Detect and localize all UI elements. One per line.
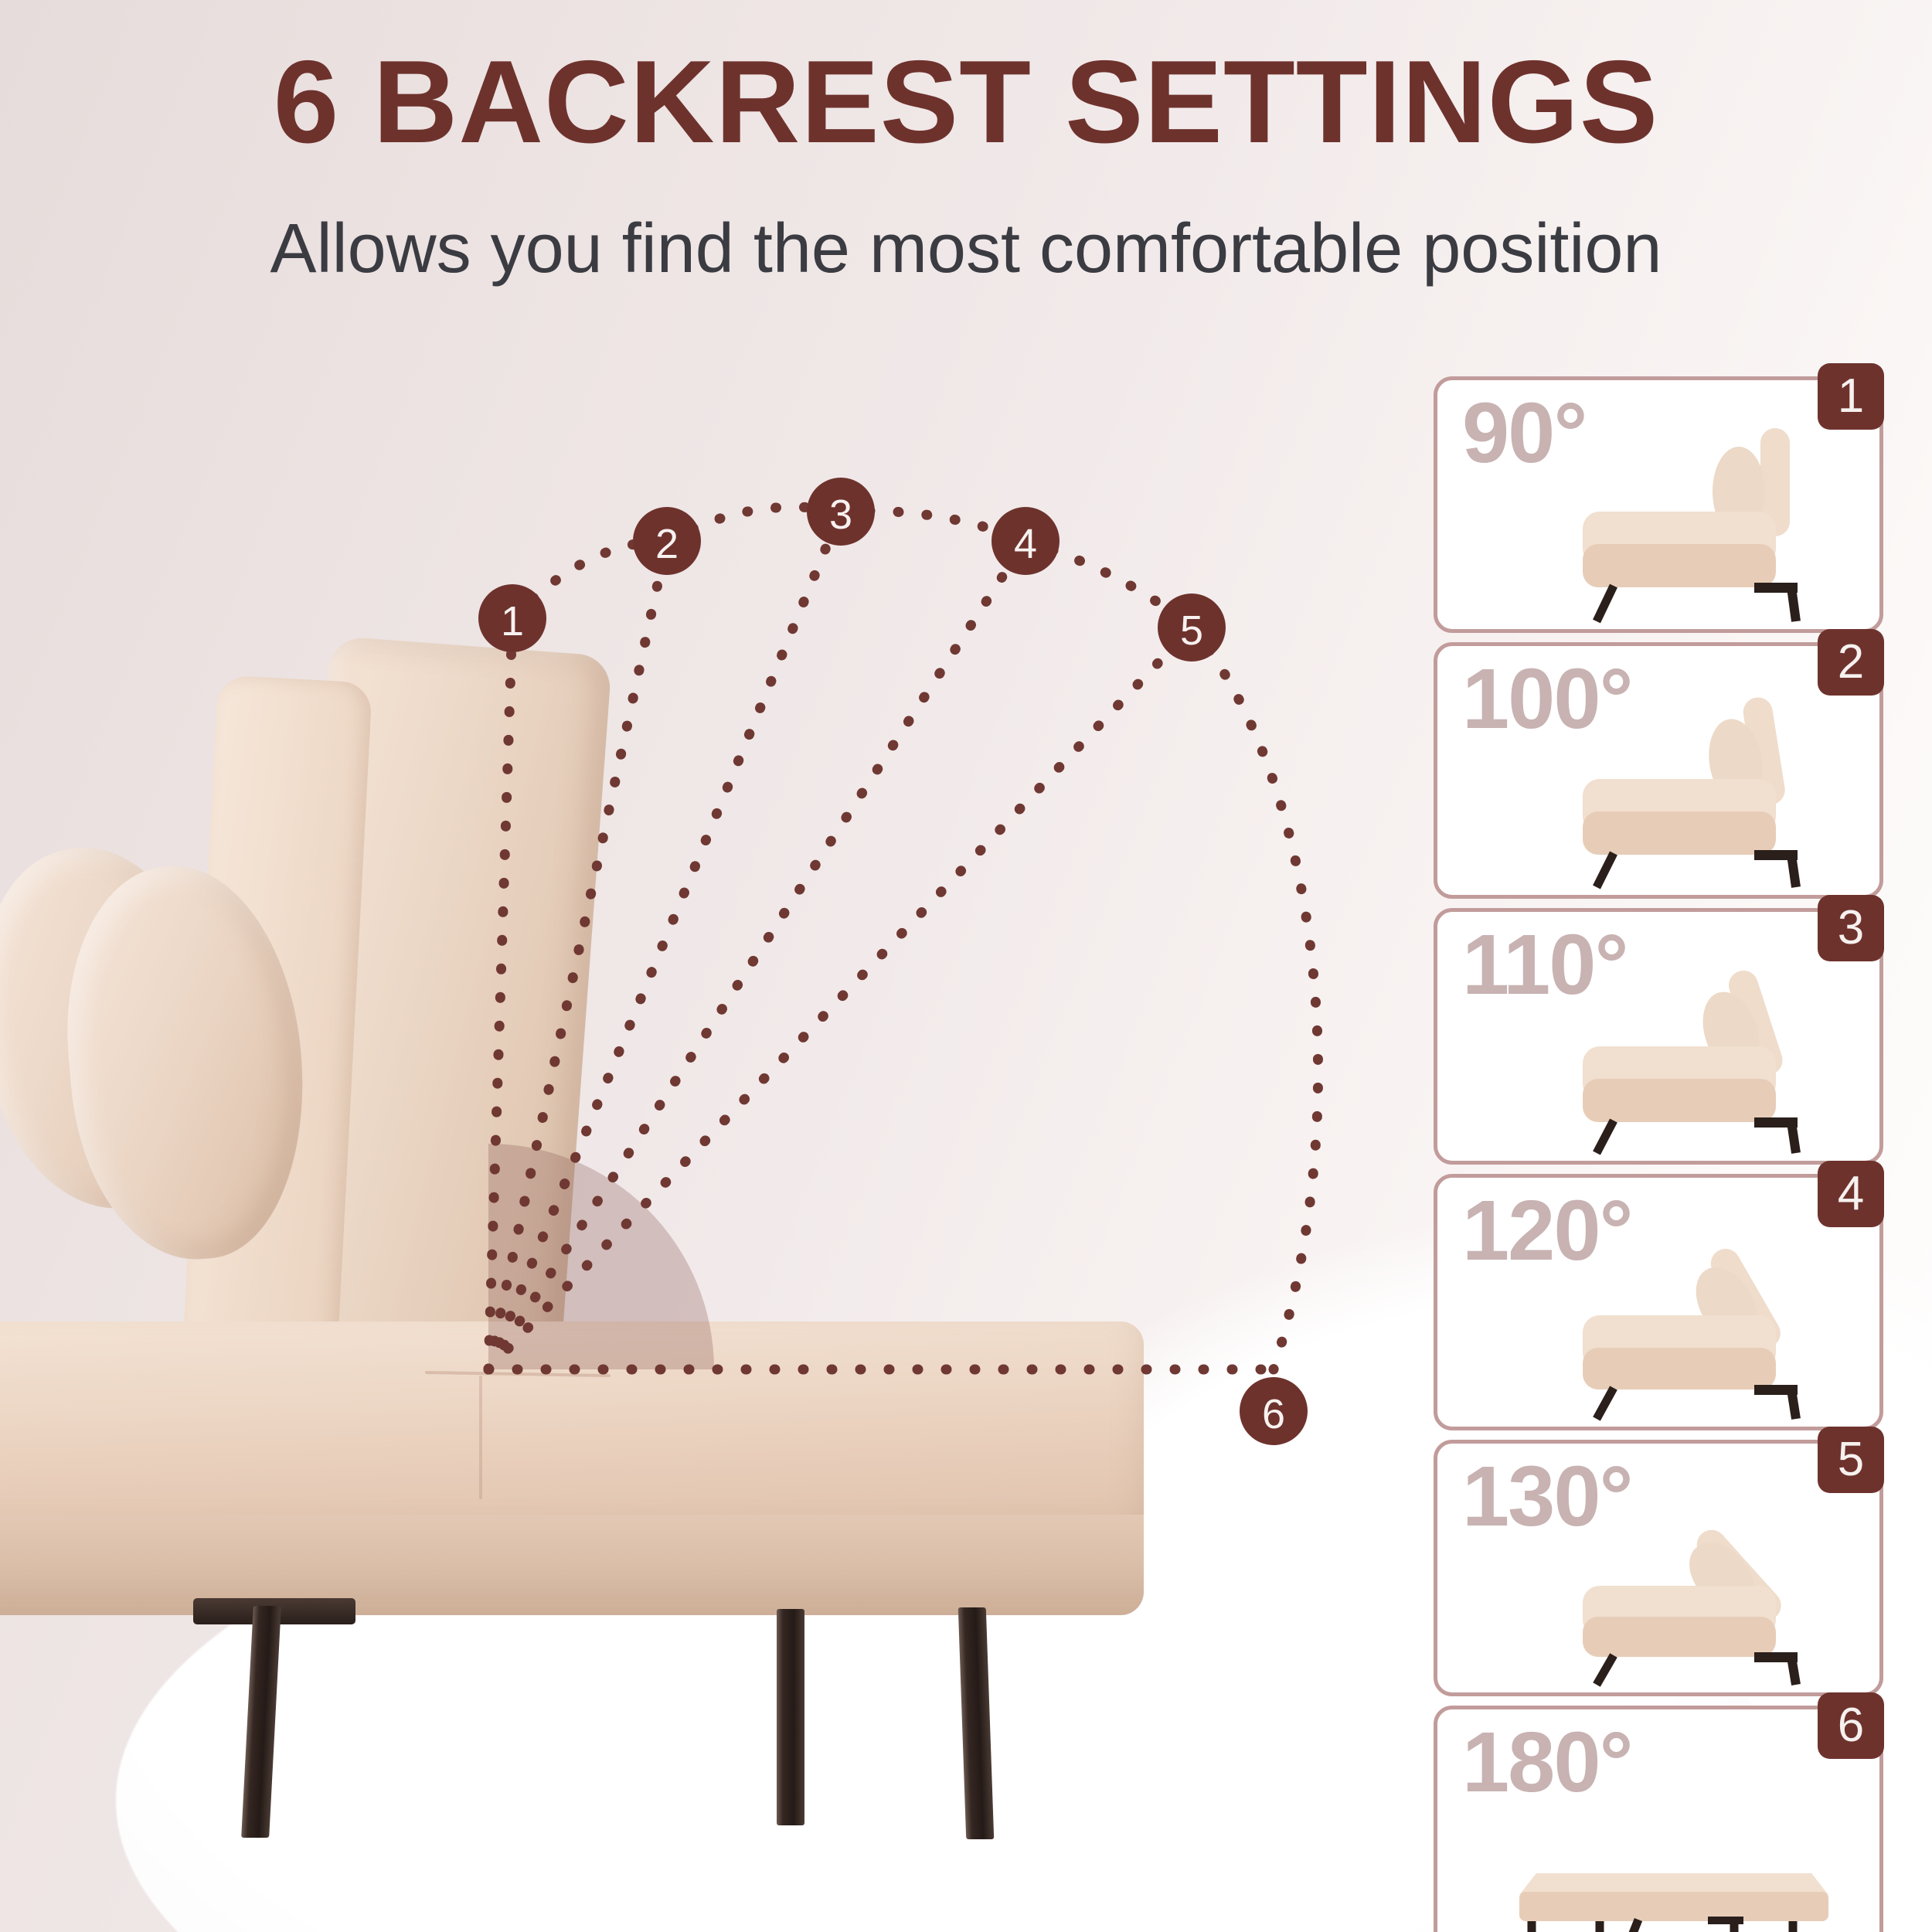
- angle-card-list: 90° 1 100° 2: [1434, 376, 1889, 1932]
- marker-label-1: 1: [501, 598, 524, 645]
- angle-card-6[interactable]: 180° 6: [1434, 1706, 1883, 1932]
- marker-label-6: 6: [1262, 1391, 1285, 1437]
- arc-5-6: [1192, 628, 1318, 1369]
- spoke-4: [488, 541, 1026, 1369]
- angle-wedge-fill: [488, 1144, 714, 1369]
- marker-label-5: 5: [1180, 607, 1203, 654]
- sofa-thumbnail-3: [1536, 946, 1869, 1156]
- angle-card-2[interactable]: 100° 2: [1434, 642, 1883, 899]
- angle-card-3[interactable]: 110° 3: [1434, 908, 1883, 1165]
- sofa-thumbnail-4: [1536, 1212, 1869, 1422]
- sofa-thumbnail-1: [1536, 414, 1869, 624]
- angle-card-4[interactable]: 120° 4: [1434, 1174, 1883, 1430]
- marker-label-4: 4: [1014, 521, 1037, 567]
- marker-label-3: 3: [829, 492, 852, 538]
- angle-card-5[interactable]: 130° 5: [1434, 1440, 1883, 1696]
- sofa-thumbnail-6: [1470, 1743, 1879, 1932]
- infographic-canvas: 6 BACKREST SETTINGS Allows you find the …: [0, 0, 1932, 1932]
- angle-card-1[interactable]: 90° 1: [1434, 376, 1883, 633]
- sofa-thumbnail-5: [1536, 1478, 1869, 1688]
- sofa-thumbnail-2: [1536, 680, 1869, 890]
- marker-label-2: 2: [655, 521, 679, 567]
